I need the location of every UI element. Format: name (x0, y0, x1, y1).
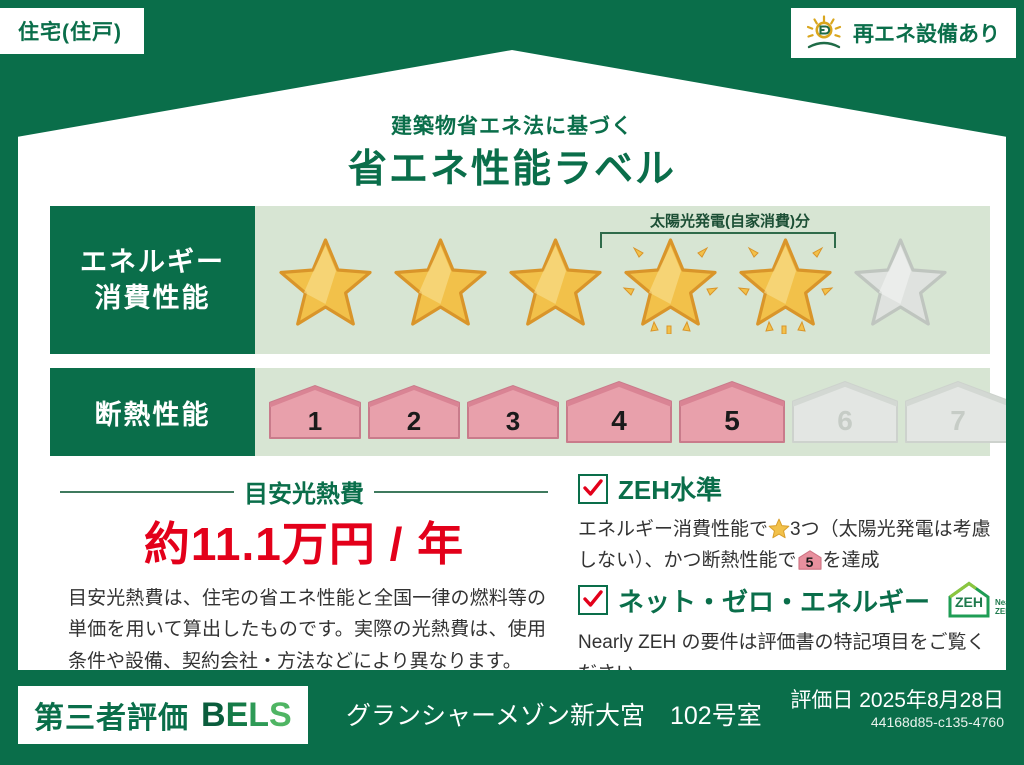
energy-star-filled (614, 226, 727, 334)
bels-badge: 第三者評価 BELS (18, 686, 308, 744)
energy-cost-heading-text: 目安光熱費 (244, 474, 364, 509)
insulation-level-filled: 5 (677, 379, 787, 445)
insulation-level-filled: 3 (465, 383, 561, 441)
bels-logo: BELS (201, 696, 292, 735)
insulation-scale-panel: 1 2 3 4 5 6 7 (255, 368, 990, 456)
bels-letter-e: E (226, 696, 249, 734)
evaluation-id: 44168d85-c135-4760 (871, 714, 1004, 730)
insulation-level-number: 2 (366, 406, 462, 437)
building-type-label: 住宅(住戸) (18, 16, 122, 46)
insulation-level-number: 5 (677, 405, 787, 437)
energy-star-filled (729, 226, 842, 334)
insulation-level-filled: 2 (366, 383, 462, 441)
heading-rule-right (374, 491, 548, 493)
insulation-level-number: 1 (267, 406, 363, 437)
zeh-logo-sub: Nearly ZEH (995, 598, 1019, 620)
solar-sun-icon (803, 15, 845, 51)
insulation-level-filled: 4 (564, 379, 674, 445)
heading-rule-left (60, 491, 234, 493)
renewable-equipment-label: 再エネ設備あり (853, 18, 1000, 48)
energy-cost-heading: 目安光熱費 (60, 474, 548, 509)
insulation-level-number: 6 (790, 405, 900, 437)
bels-letter-l: L (248, 696, 269, 734)
zeh-logo-sub-line1: Nearly (995, 598, 1019, 607)
zeh-house-logo-icon: ZEH (946, 580, 992, 620)
energy-star-panel: 太陽光発電(自家消費)分 (255, 206, 990, 354)
building-name: グランシャーメゾン新大宮 102号室 (346, 696, 762, 732)
zeh-standard-block: ZEH水準 エネルギー消費性能で 3つ（太陽光発電は考慮しない）、かつ断熱性能で… (578, 470, 998, 577)
bels-letter-b: B (201, 696, 226, 734)
insulation-level-number: 3 (465, 406, 561, 437)
insulation-level-list: 1 2 3 4 5 6 7 (255, 368, 990, 456)
insulation-level-empty: 6 (790, 379, 900, 445)
zeh-checkbox[interactable] (578, 474, 608, 504)
zeh-standard-title: ZEH水準 (618, 470, 722, 507)
energy-star-filled (269, 226, 382, 334)
building-type-badge: 住宅(住戸) (0, 8, 144, 54)
energy-star-filled (499, 226, 612, 334)
energy-performance-row: エネルギー 消費性能 太陽光発電(自家消費)分 (50, 206, 990, 354)
footer: 第三者評価 BELS グランシャーメゾン新大宮 102号室 評価日 2025年8… (0, 670, 1024, 765)
zeh-body-part1: エネルギー消費性能で (578, 519, 768, 540)
inline-house-badge-icon: 5 (797, 549, 823, 571)
net-zero-title: ネット・ゼロ・エネルギー (618, 582, 930, 619)
bels-jp-label: 第三者評価 (34, 693, 189, 737)
insulation-label-text: 断熱性能 (95, 393, 211, 432)
energy-label-line1: エネルギー (80, 244, 225, 280)
zeh-standard-header: ZEH水準 (578, 470, 998, 507)
label-sheet: 建築物省エネ法に基づく 省エネ性能ラベル エネルギー 消費性能 太陽光発電(自家… (18, 50, 1006, 670)
evaluation-date: 評価日 2025年8月28日 (790, 684, 1004, 714)
svg-text:ZEH: ZEH (955, 594, 983, 610)
energy-cost-value: 約11.1万円 / 年 (60, 508, 548, 574)
zeh-standard-body: エネルギー消費性能で 3つ（太陽光発電は考慮しない）、かつ断熱性能で 5 を達成 (578, 515, 998, 577)
insulation-performance-row: 断熱性能 1 2 3 4 5 6 7 (50, 368, 990, 456)
energy-star-list (255, 206, 990, 354)
insulation-level-number: 7 (903, 405, 1013, 437)
energy-cost-note: 目安光熱費は、住宅の省エネ性能と全国一律の燃料等の単価を用いて算出したものです。… (68, 583, 546, 677)
zeh-body-part3: を達成 (823, 550, 880, 571)
energy-label-line2: 消費性能 (95, 280, 211, 316)
page-title: 省エネ性能ラベル (18, 138, 1006, 194)
title-subtitle: 建築物省エネ法に基づく (18, 110, 1006, 140)
net-zero-header: ネット・ゼロ・エネルギー ZEH Nearly ZEH (578, 580, 998, 620)
energy-star-empty (844, 226, 957, 334)
zeh-logo: ZEH Nearly ZEH (946, 580, 1019, 620)
energy-performance-label: エネルギー 消費性能 (50, 206, 255, 354)
insulation-level-empty: 7 (903, 379, 1013, 445)
check-icon (582, 588, 604, 610)
inline-star-icon (768, 518, 790, 539)
insulation-level-number: 4 (564, 405, 674, 437)
check-icon (582, 477, 604, 499)
zeh-logo-sub-line2: ZEH (995, 607, 1011, 616)
insulation-level-filled: 1 (267, 383, 363, 441)
insulation-performance-label: 断熱性能 (50, 368, 255, 456)
net-zero-checkbox[interactable] (578, 585, 608, 615)
energy-star-filled (384, 226, 497, 334)
bels-letter-s: S (269, 696, 292, 734)
label-root: 住宅(住戸) 再エネ設備あり 建築物 (0, 0, 1024, 765)
inline-house-number: 5 (797, 551, 823, 574)
renewable-equipment-badge: 再エネ設備あり (791, 8, 1016, 58)
